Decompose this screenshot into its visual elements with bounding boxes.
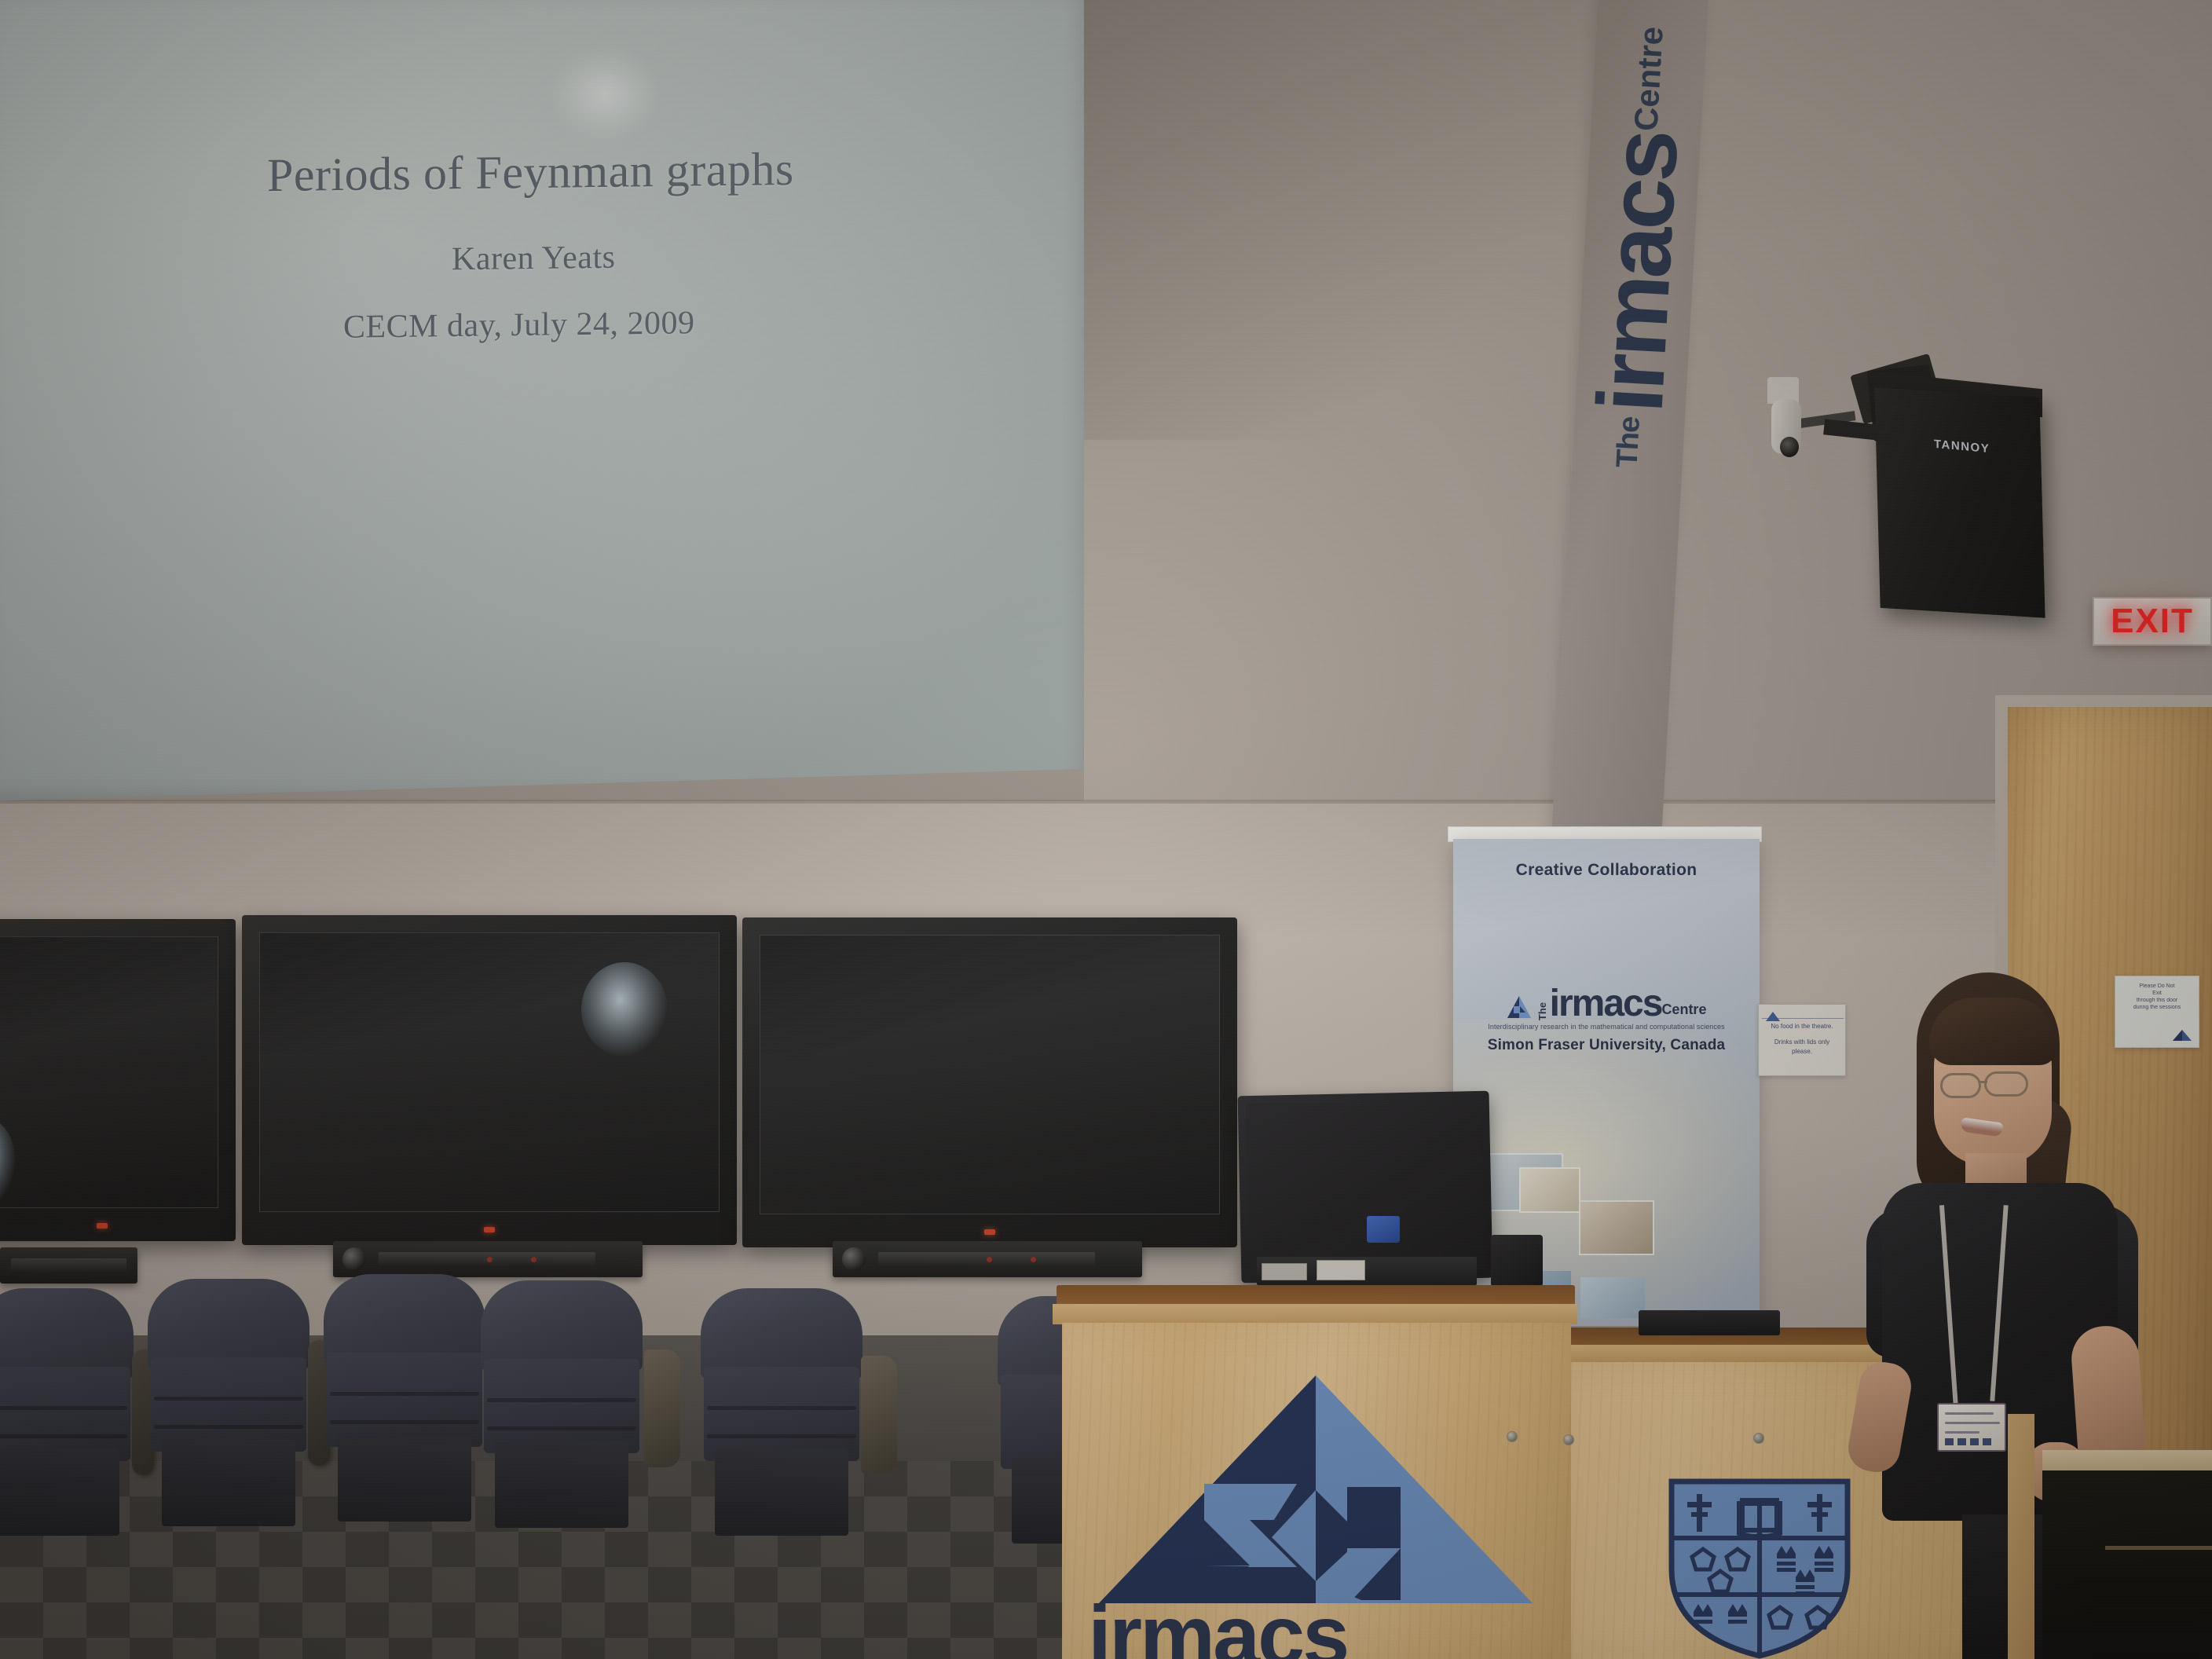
- display-control-strip-1[interactable]: [0, 1247, 137, 1284]
- control-knob-3[interactable]: [842, 1247, 866, 1271]
- seat-crease: [487, 1426, 636, 1430]
- auditorium-seat[interactable]: [481, 1280, 643, 1547]
- seat-crease: [330, 1392, 479, 1396]
- seat-crease: [154, 1425, 303, 1429]
- podium-label-card-1: [1262, 1263, 1307, 1280]
- control-led-3b: [1031, 1257, 1036, 1262]
- badge-text-line: [1945, 1412, 1994, 1415]
- seat-back: [481, 1280, 643, 1371]
- slide-title: Periods of Feynman graphs: [267, 142, 794, 203]
- banner-logo-centre: Centre: [1661, 1002, 1706, 1018]
- plasma-standby-led-3: [984, 1229, 995, 1235]
- irmacs-triangle-icon-notice: [1766, 1012, 1780, 1021]
- auditorium-seat[interactable]: [324, 1274, 485, 1544]
- badge-sponsor-icons: [1945, 1438, 1991, 1445]
- seat-body: [484, 1359, 639, 1453]
- seat-tablet-arm[interactable]: [644, 1350, 680, 1467]
- notice-line-2: Drinks with lids only: [1759, 1038, 1845, 1047]
- badge-icon: [1945, 1438, 1954, 1445]
- podium-cable-tray: [1639, 1310, 1780, 1335]
- control-slot-1: [11, 1258, 126, 1273]
- control-led-2a: [487, 1257, 493, 1262]
- collage-photo-5: [1580, 1277, 1645, 1318]
- collage-photo-2: [1519, 1167, 1580, 1213]
- podium-screw: [1563, 1434, 1574, 1445]
- side-table-top: [2042, 1450, 2212, 1472]
- podium-irmacs-wordmark: irmacs: [1088, 1593, 1347, 1659]
- plasma-reflection-2: [581, 962, 668, 1057]
- camera-lens-icon-right: [1780, 437, 1799, 457]
- seat-base: [0, 1449, 119, 1536]
- control-led-3a: [987, 1257, 992, 1262]
- banner-logo: The irmacs Centre: [1453, 988, 1760, 1020]
- eyeglasses-bridge: [1979, 1081, 1987, 1083]
- slide-date: CECM day, July 24, 2009: [343, 304, 694, 346]
- plasma-display-2: [242, 915, 737, 1245]
- no-food-notice-sign: No food in the theatre. Drinks with lids…: [1758, 1004, 1846, 1076]
- seat-crease: [707, 1434, 856, 1438]
- banner-logo-irmacs: irmacs: [1550, 988, 1662, 1020]
- seat-crease: [330, 1420, 479, 1424]
- auditorium-seat[interactable]: [701, 1288, 862, 1554]
- irmacs-triangle-icon-banner: [1507, 995, 1532, 1020]
- seat-base: [715, 1449, 848, 1536]
- seat-crease: [487, 1398, 636, 1402]
- hair-front: [1929, 998, 2056, 1065]
- seat-crease: [707, 1406, 856, 1410]
- plasma-screen-3: [760, 935, 1220, 1214]
- monitor-bezel: [1246, 1099, 1485, 1272]
- plasma-standby-led-2: [484, 1227, 495, 1232]
- control-knob-2[interactable]: [342, 1247, 366, 1271]
- seat-body: [704, 1367, 859, 1461]
- seat-crease: [0, 1406, 127, 1410]
- badge-icon: [1957, 1438, 1966, 1445]
- plasma-standby-led-1: [97, 1223, 108, 1229]
- side-table-body: [2042, 1470, 2212, 1659]
- seat-crease: [0, 1434, 127, 1438]
- photo-scene: Periods of Feynman graphs Karen Yeats CE…: [0, 0, 2212, 1659]
- control-led-2b: [531, 1257, 537, 1262]
- seat-back: [148, 1279, 309, 1369]
- column-banner-the: The: [1610, 416, 1647, 469]
- collage-photo-3: [1579, 1200, 1654, 1255]
- auditorium-seat[interactable]: [148, 1279, 309, 1546]
- projector-hotspot: [550, 47, 660, 141]
- vga-connector[interactable]: [1367, 1216, 1400, 1243]
- plasma-display-3: [742, 917, 1237, 1247]
- exit-sign-label: EXIT: [2111, 602, 2194, 641]
- banner-university: Simon Fraser University, Canada: [1453, 1037, 1760, 1054]
- column-banner-irmacs: irmacs: [1593, 130, 1683, 414]
- seat-tablet-arm[interactable]: [861, 1356, 897, 1474]
- badge-text-line: [1945, 1431, 1979, 1434]
- seat-base: [495, 1441, 628, 1528]
- badge-icon: [1970, 1438, 1979, 1445]
- podium-device-box: [1491, 1235, 1543, 1287]
- seat-back: [0, 1288, 134, 1379]
- column-banner-centre: Centre: [1627, 26, 1670, 133]
- eyeglasses-left-lens: [1940, 1073, 1981, 1098]
- seat-back: [324, 1274, 485, 1364]
- screen-vignette: [0, 0, 1084, 801]
- notice-header-bar: [1762, 1008, 1844, 1019]
- seat-body: [151, 1357, 306, 1452]
- notice-line-1: No food in the theatre.: [1759, 1022, 1845, 1031]
- display-control-strip-2[interactable]: [333, 1241, 643, 1277]
- ceiling-shadow: [1084, 0, 1634, 440]
- seat-body: [0, 1367, 130, 1461]
- banner-logo-the: The: [1536, 1002, 1548, 1020]
- seat-body: [327, 1353, 482, 1447]
- seat-base: [162, 1440, 295, 1526]
- notice-line-3: please.: [1759, 1047, 1845, 1057]
- banner-subtitle: Interdisciplinary research in the mathem…: [1453, 1023, 1760, 1031]
- podium-lcd-monitor[interactable]: [1238, 1091, 1493, 1284]
- podium-lip: [1053, 1304, 1577, 1324]
- badge-text-line: [1945, 1422, 2000, 1424]
- seat-base: [338, 1435, 471, 1522]
- eyeglasses-right-lens: [1984, 1071, 2028, 1097]
- display-control-strip-3[interactable]: [833, 1241, 1142, 1277]
- plasma-display-1: [0, 919, 236, 1241]
- sfu-crest-logo: [1665, 1477, 1854, 1659]
- seat-back: [701, 1288, 862, 1379]
- podium-side-post: [2008, 1414, 2034, 1659]
- slide-author: Karen Yeats: [452, 239, 615, 279]
- banner-tagline: Creative Collaboration: [1453, 861, 1760, 880]
- podium-screw: [1753, 1433, 1764, 1444]
- side-table-edge: [2105, 1546, 2212, 1550]
- irmacs-triangle-logo: [1096, 1371, 1536, 1606]
- auditorium-seat[interactable]: [0, 1288, 134, 1547]
- exit-sign: EXIT: [2093, 597, 2212, 646]
- badge-icon: [1983, 1438, 1991, 1445]
- podium-label-card-2: [1317, 1260, 1365, 1280]
- cable-bundle: [2041, 1397, 2135, 1437]
- tannoy-wall-speaker: [1874, 387, 2045, 617]
- conference-name-badge: [1937, 1403, 2006, 1452]
- wall-seam: [0, 800, 2212, 804]
- plasma-screen-1: [0, 936, 218, 1208]
- seat-crease: [154, 1397, 303, 1401]
